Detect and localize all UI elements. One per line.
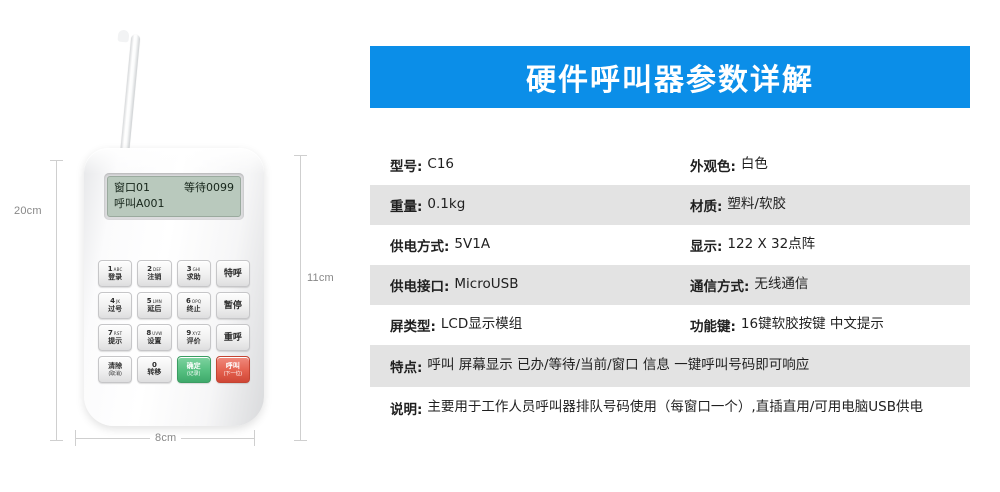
key-letters: UVW bbox=[152, 331, 162, 337]
key-重呼[interactable]: 重呼 bbox=[216, 324, 250, 351]
key-label: 清除 bbox=[108, 363, 122, 371]
key-top-row: 5LMN bbox=[147, 298, 162, 305]
key-label: 特呼 bbox=[224, 268, 242, 279]
key-letters: RST bbox=[114, 331, 122, 337]
key-清除[interactable]: 清除(取消) bbox=[98, 356, 132, 383]
spec-row: 供电接口:MicroUSB通信方式:无线通信 bbox=[370, 265, 970, 305]
spec-panel: 硬件呼叫器参数详解 型号:C16外观色:白色重量:0.1kg材质:塑料/软胶供电… bbox=[370, 0, 970, 492]
key-确定[interactable]: 确定(记录) bbox=[177, 356, 211, 383]
key-sublabel: (下一位) bbox=[224, 371, 242, 377]
key-特呼[interactable]: 特呼 bbox=[216, 260, 250, 287]
key-5-延后[interactable]: 5LMN延后 bbox=[137, 292, 171, 319]
key-sublabel: (记录) bbox=[187, 371, 200, 377]
key-number: 3 bbox=[187, 266, 192, 272]
spec-4-right-key: 功能键: bbox=[690, 315, 736, 335]
key-letters: ABC bbox=[114, 267, 123, 273]
width-dimension-cap-left bbox=[75, 430, 76, 446]
key-label: 过号 bbox=[108, 306, 122, 314]
key-top-row: 9XYZ bbox=[186, 330, 200, 337]
antenna-tip bbox=[117, 30, 129, 43]
depth-dimension-line bbox=[300, 155, 301, 440]
key-letters: JK bbox=[116, 299, 120, 305]
spec-3-right-value: 无线通信 bbox=[754, 275, 808, 295]
height-dimension-cap-bottom bbox=[50, 440, 63, 441]
key-9-评价[interactable]: 9XYZ评价 bbox=[177, 324, 211, 351]
spec-2-right-cell: 显示:122 X 32点阵 bbox=[690, 235, 970, 255]
lcd-line-1: 窗口01 等待0099 bbox=[114, 180, 234, 196]
product-photo-panel: 20cm 11cm 8cm 窗口01 等待0099 呼叫A001 1ABC登录2… bbox=[0, 0, 350, 492]
height-dimension-line bbox=[56, 160, 57, 440]
spec-full-0-key: 特点: bbox=[390, 356, 422, 376]
spec-row: 屏类型:LCD显示模组功能键:16键软胶按键 中文提示 bbox=[370, 305, 970, 345]
spec-2-right-key: 显示: bbox=[690, 235, 722, 255]
spec-0-left-value: C16 bbox=[427, 155, 454, 175]
key-7-提示[interactable]: 7RST提示 bbox=[98, 324, 132, 351]
key-top-row: 8UVW bbox=[146, 330, 162, 337]
key-label: 延后 bbox=[147, 306, 161, 314]
depth-dimension-cap-bottom bbox=[294, 440, 307, 441]
key-number: 2 bbox=[147, 266, 152, 272]
key-label: 注销 bbox=[147, 274, 161, 282]
key-label: 转移 bbox=[147, 369, 161, 377]
caller-device-body: 窗口01 等待0099 呼叫A001 1ABC登录2DEF注销3GHI求助特呼4… bbox=[84, 148, 264, 426]
width-dimension-label: 8cm bbox=[150, 432, 181, 444]
lcd-line-2: 呼叫A001 bbox=[114, 196, 234, 212]
key-label: 登录 bbox=[108, 274, 122, 282]
key-label: 确定 bbox=[187, 363, 201, 371]
key-4-过号[interactable]: 4JK过号 bbox=[98, 292, 132, 319]
key-number: 9 bbox=[186, 330, 191, 336]
spec-0-left-cell: 型号:C16 bbox=[390, 155, 690, 175]
key-number: 4 bbox=[110, 298, 115, 304]
key-label: 暂停 bbox=[224, 300, 242, 311]
spec-4-left-cell: 屏类型:LCD显示模组 bbox=[390, 315, 690, 335]
key-letters: OPQ bbox=[192, 299, 201, 305]
width-dimension-cap-right bbox=[254, 430, 255, 446]
height-dimension-cap-top bbox=[50, 160, 63, 161]
key-number: 0 bbox=[152, 362, 157, 368]
spec-4-left-key: 屏类型: bbox=[390, 315, 436, 335]
spec-3-left-key: 供电接口: bbox=[390, 275, 449, 295]
key-top-row: 3GHI bbox=[187, 266, 201, 273]
key-label: 终止 bbox=[187, 306, 201, 314]
key-number: 5 bbox=[147, 298, 152, 304]
spec-2-left-key: 供电方式: bbox=[390, 235, 449, 255]
lcd-screen: 窗口01 等待0099 呼叫A001 bbox=[107, 176, 241, 217]
spec-0-left-key: 型号: bbox=[390, 155, 422, 175]
key-label: 设置 bbox=[147, 338, 161, 346]
spec-1-left-cell: 重量:0.1kg bbox=[390, 195, 690, 215]
spec-full-0-value: 呼叫 屏幕显示 已办/等待/当前/窗口 信息 一键呼叫号码即可响应 bbox=[427, 356, 809, 376]
key-top-row: 7RST bbox=[108, 330, 122, 337]
key-number: 7 bbox=[108, 330, 113, 336]
key-1-登录[interactable]: 1ABC登录 bbox=[98, 260, 132, 287]
spec-4-right-value: 16键软胶按键 中文提示 bbox=[741, 315, 884, 335]
key-number: 6 bbox=[186, 298, 191, 304]
device-top-bevel bbox=[84, 148, 264, 174]
key-letters: DEF bbox=[153, 267, 162, 273]
spec-title-bar: 硬件呼叫器参数详解 bbox=[370, 46, 970, 108]
spec-row: 型号:C16外观色:白色 bbox=[370, 145, 970, 185]
key-label: 提示 bbox=[108, 338, 122, 346]
spec-1-left-value: 0.1kg bbox=[427, 195, 465, 215]
lcd-window-text: 窗口01 bbox=[114, 180, 150, 196]
key-暂停[interactable]: 暂停 bbox=[216, 292, 250, 319]
spec-row-full: 说明:主要用于工作人员呼叫器排队号码使用（每窗口一个）,直插直用/可用电脑USB… bbox=[370, 387, 970, 429]
spec-full-0-cell: 特点:呼叫 屏幕显示 已办/等待/当前/窗口 信息 一键呼叫号码即可响应 bbox=[390, 356, 970, 376]
spec-full-1-value: 主要用于工作人员呼叫器排队号码使用（每窗口一个）,直插直用/可用电脑USB供电 bbox=[427, 398, 923, 418]
spec-3-left-cell: 供电接口:MicroUSB bbox=[390, 275, 690, 295]
key-letters: GHI bbox=[193, 267, 201, 273]
key-3-求助[interactable]: 3GHI求助 bbox=[177, 260, 211, 287]
key-top-row: 0 bbox=[152, 362, 157, 368]
key-呼叫[interactable]: 呼叫(下一位) bbox=[216, 356, 250, 383]
key-top-row: 2DEF bbox=[147, 266, 161, 273]
key-number: 8 bbox=[146, 330, 151, 336]
key-2-注销[interactable]: 2DEF注销 bbox=[137, 260, 171, 287]
lcd-call-text: 呼叫A001 bbox=[114, 196, 165, 212]
lcd-bezel: 窗口01 等待0099 呼叫A001 bbox=[104, 173, 244, 220]
spec-row-full: 特点:呼叫 屏幕显示 已办/等待/当前/窗口 信息 一键呼叫号码即可响应 bbox=[370, 345, 970, 387]
height-dimension-label: 20cm bbox=[14, 205, 42, 217]
spec-2-left-value: 5V1A bbox=[454, 235, 490, 255]
spec-row: 重量:0.1kg材质:塑料/软胶 bbox=[370, 185, 970, 225]
spec-1-right-cell: 材质:塑料/软胶 bbox=[690, 195, 970, 215]
key-sublabel: (取消) bbox=[108, 371, 121, 377]
depth-dimension-cap-top bbox=[294, 155, 307, 156]
spec-3-right-key: 通信方式: bbox=[690, 275, 749, 295]
depth-dimension-label: 11cm bbox=[307, 272, 334, 284]
spec-3-left-value: MicroUSB bbox=[454, 275, 518, 295]
key-label: 求助 bbox=[187, 274, 201, 282]
key-0-转移[interactable]: 0转移 bbox=[137, 356, 171, 383]
key-top-row: 4JK bbox=[110, 298, 120, 305]
spec-full-1-key: 说明: bbox=[390, 398, 422, 418]
spec-2-left-cell: 供电方式:5V1A bbox=[390, 235, 690, 255]
spec-row: 供电方式:5V1A显示:122 X 32点阵 bbox=[370, 225, 970, 265]
keypad: 1ABC登录2DEF注销3GHI求助特呼4JK过号5LMN延后6OPQ终止暂停7… bbox=[98, 260, 250, 383]
spec-1-right-key: 材质: bbox=[690, 195, 722, 215]
key-top-row: 6OPQ bbox=[186, 298, 201, 305]
lcd-waiting-text: 等待0099 bbox=[184, 180, 234, 196]
key-8-设置[interactable]: 8UVW设置 bbox=[137, 324, 171, 351]
key-number: 1 bbox=[108, 266, 113, 272]
key-label: 评价 bbox=[187, 338, 201, 346]
spec-1-right-value: 塑料/软胶 bbox=[727, 195, 786, 215]
spec-3-right-cell: 通信方式:无线通信 bbox=[690, 275, 970, 295]
spec-table: 型号:C16外观色:白色重量:0.1kg材质:塑料/软胶供电方式:5V1A显示:… bbox=[370, 145, 970, 429]
spec-0-right-cell: 外观色:白色 bbox=[690, 155, 970, 175]
spec-0-right-key: 外观色: bbox=[690, 155, 736, 175]
spec-2-right-value: 122 X 32点阵 bbox=[727, 235, 815, 255]
spec-4-left-value: LCD显示模组 bbox=[441, 315, 522, 335]
key-label: 重呼 bbox=[224, 332, 242, 343]
spec-1-left-key: 重量: bbox=[390, 195, 422, 215]
spec-full-1-cell: 说明:主要用于工作人员呼叫器排队号码使用（每窗口一个）,直插直用/可用电脑USB… bbox=[390, 398, 970, 418]
key-6-终止[interactable]: 6OPQ终止 bbox=[177, 292, 211, 319]
spec-0-right-value: 白色 bbox=[741, 155, 768, 175]
key-label: 呼叫 bbox=[226, 363, 240, 371]
antenna bbox=[119, 34, 140, 164]
spec-title: 硬件呼叫器参数详解 bbox=[526, 55, 814, 99]
key-top-row: 1ABC bbox=[108, 266, 123, 273]
key-letters: LMN bbox=[153, 299, 162, 305]
key-letters: XYZ bbox=[192, 331, 201, 337]
spec-4-right-cell: 功能键:16键软胶按键 中文提示 bbox=[690, 315, 970, 335]
